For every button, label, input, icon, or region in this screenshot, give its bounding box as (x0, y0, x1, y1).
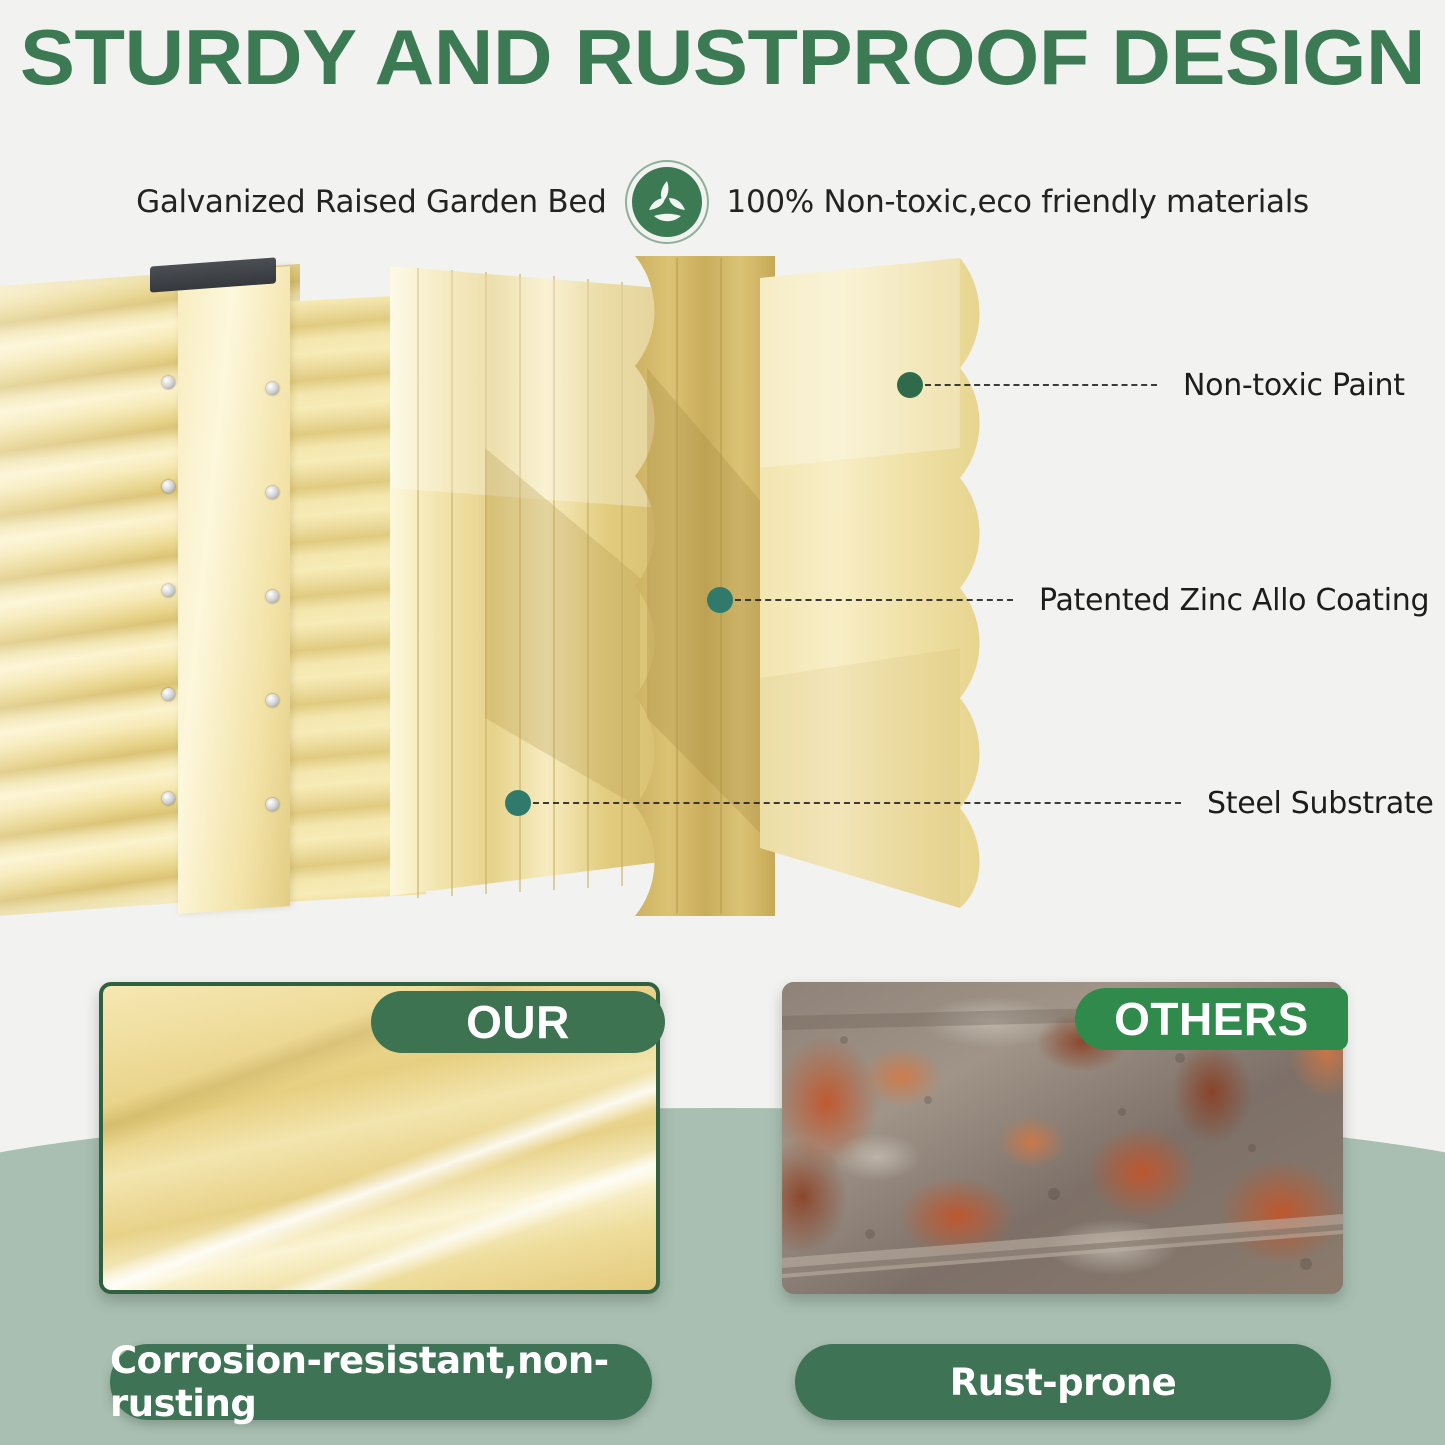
eco-recycle-leaves-icon (625, 160, 709, 244)
subtitle-left: Galvanized Raised Garden Bed (136, 184, 606, 220)
callout-label: Patented Zinc Allo Coating (1039, 583, 1429, 618)
screw-icon (162, 688, 175, 701)
callout-non-toxic-paint: Non-toxic Paint (897, 370, 1405, 400)
screw-icon (266, 798, 279, 811)
screw-icon (162, 480, 175, 493)
subtitle-row: Galvanized Raised Garden Bed 100% Non-to… (0, 160, 1445, 244)
page-title: STURDY AND RUSTPROOF DESIGN (0, 12, 1445, 103)
our-caption: Corrosion-resistant,non-rusting (110, 1344, 652, 1420)
screw-icon (162, 792, 175, 805)
callout-label: Non-toxic Paint (1183, 368, 1405, 403)
screw-icon (162, 584, 175, 597)
screw-icon (266, 486, 279, 499)
others-badge: OTHERS (1075, 988, 1348, 1050)
screw-icon (266, 694, 279, 707)
infographic-page: STURDY AND RUSTPROOF DESIGN Galvanized R… (0, 0, 1445, 1445)
others-caption: Rust-prone (795, 1344, 1331, 1420)
callout-dot-icon (505, 790, 531, 816)
callout-dot-icon (897, 372, 923, 398)
screw-icon (266, 590, 279, 603)
callout-leader-line (735, 599, 1013, 601)
subtitle-right: 100% Non-toxic,eco friendly materials (727, 184, 1309, 220)
callout-label: Steel Substrate (1207, 786, 1434, 821)
screw-icon (266, 382, 279, 395)
callout-leader-line (925, 384, 1157, 386)
our-badge: OUR (371, 991, 665, 1053)
callout-dot-icon (707, 587, 733, 613)
callout-zinc-coating: Patented Zinc Allo Coating (707, 585, 1429, 615)
screw-icon (162, 376, 175, 389)
callout-steel-substrate: Steel Substrate (505, 788, 1434, 818)
leaves-glyph (641, 176, 693, 228)
callout-leader-line (533, 802, 1181, 804)
